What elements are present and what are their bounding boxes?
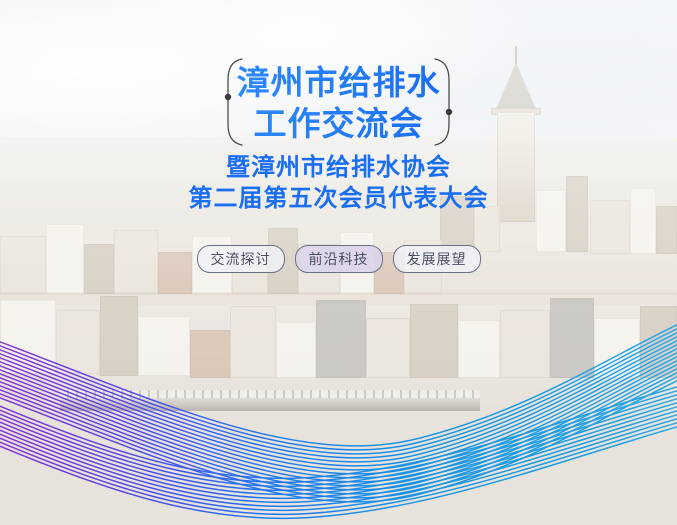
conference-banner: 漳州市给排水 工作交流会 暨漳州市给排水协会 第二届第五次会员代表大会 交流探讨…	[0, 0, 677, 525]
tag-jiaoliutantao[interactable]: 交流探讨	[197, 245, 285, 273]
bracket-left-icon	[226, 58, 243, 146]
tag-list: 交流探讨 前沿科技 发展展望	[0, 245, 677, 273]
tag-qianyankeji[interactable]: 前沿科技	[295, 245, 383, 273]
bracket-right-icon	[434, 58, 451, 146]
tag-fazhanzhanwang[interactable]: 发展展望	[393, 245, 481, 273]
